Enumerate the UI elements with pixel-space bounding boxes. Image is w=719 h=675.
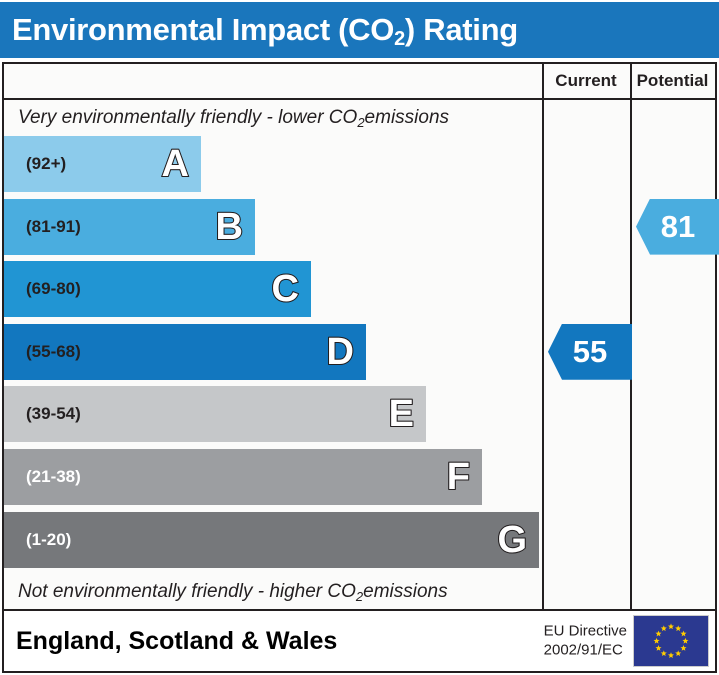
caption-bottom-subscript: 2: [356, 589, 363, 604]
band-letter-c: C: [272, 270, 299, 308]
caption-very-friendly: Very environmentally friendly - lower CO…: [4, 100, 542, 136]
column-divider-current: [542, 64, 544, 609]
page-title: Environmental Impact (CO2) Rating: [0, 12, 518, 48]
epc-environmental-impact-chart: Environmental Impact (CO2) Rating Curren…: [0, 0, 719, 675]
caption-top-prefix: Very environmentally friendly - lower CO: [18, 107, 357, 129]
rating-band-f: (21-38)F: [4, 449, 482, 505]
rating-value-potential: 81: [661, 209, 695, 245]
rating-arrow-current: 55: [548, 324, 632, 380]
caption-not-friendly: Not environmentally friendly - higher CO…: [4, 575, 542, 609]
page-title-prefix: Environmental Impact (CO: [12, 12, 394, 47]
rating-band-a: (92+)A: [4, 136, 201, 192]
caption-top-suffix: emissions: [365, 107, 449, 129]
caption-bottom-prefix: Not environmentally friendly - higher CO: [18, 581, 356, 603]
rating-band-g: (1-20)G: [4, 512, 539, 568]
rating-band-e: (39-54)E: [4, 386, 426, 442]
rating-band-d: (55-68)D: [4, 324, 366, 380]
band-letter-d: D: [327, 333, 354, 371]
band-letter-e: E: [389, 395, 414, 433]
band-range-f: (21-38): [4, 467, 81, 487]
rating-bands: (92+)A(81-91)B(69-80)C(55-68)D(39-54)E(2…: [4, 136, 542, 575]
rating-band-c: (69-80)C: [4, 261, 311, 317]
column-header-potential: Potential: [630, 64, 715, 98]
rating-value-current: 55: [573, 334, 607, 370]
band-range-a: (92+): [4, 154, 66, 174]
band-letter-g: G: [497, 521, 527, 559]
chart-title-bar: Environmental Impact (CO2) Rating: [0, 2, 719, 58]
band-range-d: (55-68): [4, 342, 81, 362]
column-header-current: Current: [542, 64, 630, 98]
chart-footer: England, Scotland & Wales EU Directive 2…: [2, 611, 717, 673]
footer-region-label: England, Scotland & Wales: [4, 627, 337, 656]
band-letter-f: F: [447, 458, 470, 496]
band-letter-b: B: [216, 208, 243, 246]
page-title-subscript: 2: [394, 28, 405, 50]
band-range-g: (1-20): [4, 530, 71, 550]
caption-bottom-suffix: emissions: [363, 581, 447, 603]
band-range-c: (69-80): [4, 279, 81, 299]
band-range-e: (39-54): [4, 404, 81, 424]
caption-top-subscript: 2: [357, 115, 364, 130]
rating-table: Current Potential Very environmentally f…: [2, 62, 717, 611]
band-range-b: (81-91): [4, 217, 81, 237]
band-letter-a: A: [162, 145, 189, 183]
rating-band-b: (81-91)B: [4, 199, 255, 255]
directive-line-1: EU Directive: [544, 622, 627, 641]
table-header-row: Current Potential: [4, 64, 715, 100]
footer-directive: EU Directive 2002/91/EC: [544, 622, 627, 660]
rating-arrow-potential: 81: [636, 199, 719, 255]
page-title-suffix: ) Rating: [405, 12, 518, 47]
eu-flag-icon: [633, 615, 709, 667]
directive-line-2: 2002/91/EC: [544, 641, 627, 660]
